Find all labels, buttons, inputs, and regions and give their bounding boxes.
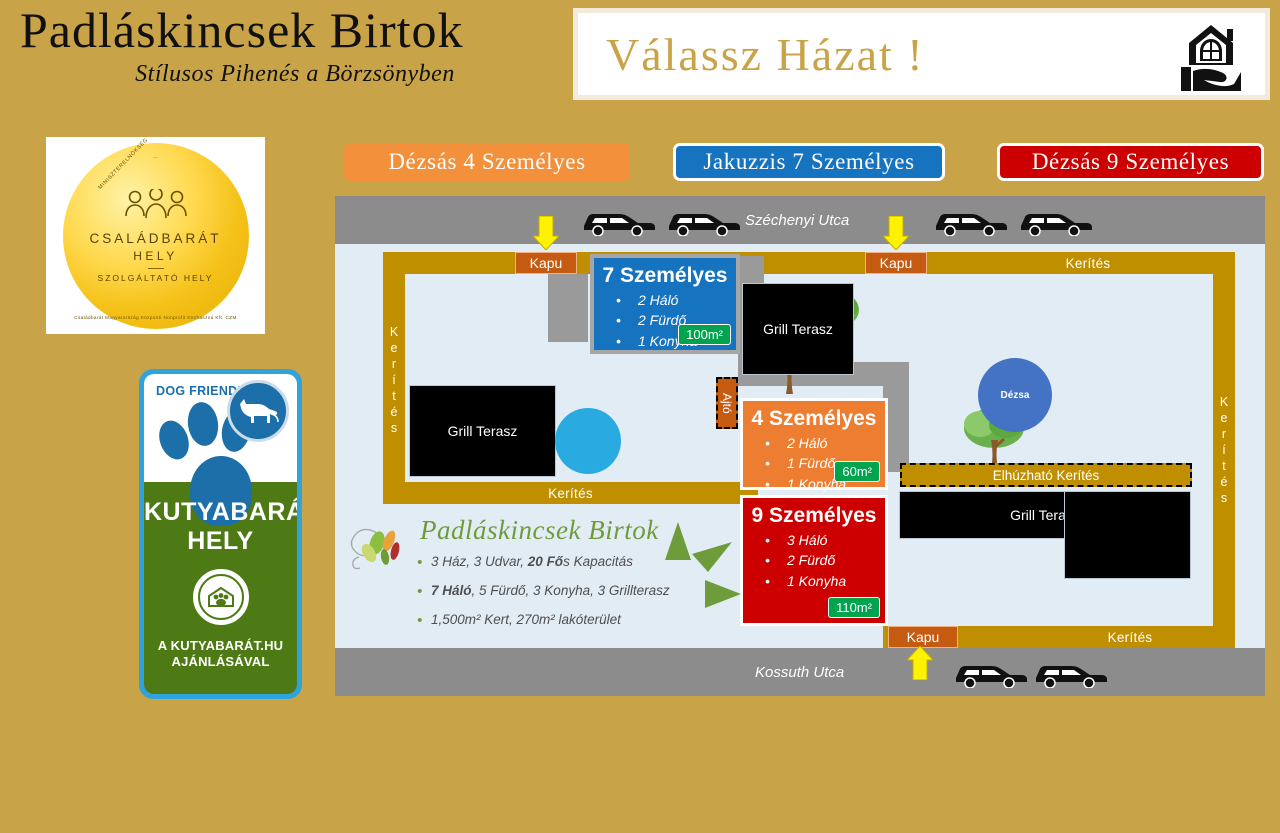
house-9-feature: 1 Konyha [765,571,885,591]
car-icon [665,206,741,236]
dog-badge-title: KUTYABARÁT [144,498,297,527]
house-9-title: 9 Személyes [743,504,885,528]
grill-terrace-right-bottom [1065,492,1190,578]
hot-tub-top: Dézsa [978,358,1052,432]
house-card-4[interactable]: 4 Személyes 2 Háló 1 Fürdő 1 Konyha 60m² [740,398,888,490]
dog-recommend-line1: A KUTYABARÁT.HU [158,638,284,653]
dog-badge-top: DOG FRIENDLY [144,374,297,482]
street-label-top: Széchenyi Utca [745,212,849,229]
fence-bottom-label: Kerítés [1025,626,1235,648]
dog-silhouette-icon [227,380,289,442]
dog-badge-recommendation: A KUTYABARÁT.HU AJÁNLÁSÁVAL [144,638,297,671]
tab-dezsas-4-szemelyes[interactable]: Dézsás 4 Személyes [344,143,630,181]
house-7-feature: 2 Háló [616,290,736,310]
car-icon [1032,658,1108,688]
arrow-diagonal-decoration [690,540,734,574]
info-bullet-2: 7 Háló, 5 Fürdő, 3 Konyha, 3 Grillterasz [417,583,745,599]
car-icon [580,206,656,236]
info-bullet-3: 1,500m² Kert, 270m² lakóterület [417,612,745,628]
page-title: Padláskincsek Birtok [20,4,570,57]
car-icon [952,658,1028,688]
choose-house-banner: Válassz Házat ! [573,8,1270,100]
house-9-feature: 3 Háló [765,530,885,550]
marker-3-icon [907,646,933,680]
house-card-9[interactable]: 9 Személyes 3 Háló 2 Fürdő 1 Konyha 110m… [740,495,888,626]
house-4-area: 60m² [834,461,880,482]
car-icon [1017,206,1093,236]
dog-badge-title2: HELY [144,527,297,556]
dog-recommend-line2: AJÁNLÁSÁVAL [171,654,269,669]
street-label-bottom: Kossuth Utca [755,664,844,681]
jacuzzi-feature [555,408,621,474]
family-badge-service: SZOLGÁLTATÓ HELY [98,273,214,283]
grill-terrace-left: Grill Terasz [410,386,555,476]
house-4-feature: 2 Háló [765,433,885,453]
family-badge-divider [148,268,164,269]
fence-right-label: Kerítés [1213,366,1235,536]
dog-badge-text-zone: KUTYABARÁT HELY A KUTYABARÁT.HU AJÁNLÁSÁ… [144,482,297,694]
fence-top-right-label: Kerítés [941,252,1235,274]
house-card-7[interactable]: 7 Személyes 2 Háló 2 Fürdő 1 Konyha 100m… [590,254,740,354]
sliding-fence-label: Elhúzható Kerítés [900,463,1192,487]
family-badge-name: CSALÁDBARÁT [89,231,221,246]
door-label: Ajtó [716,377,738,429]
family-people-icon [119,189,193,223]
tab-dezsas-9-szemelyes[interactable]: Dézsás 9 Személyes [997,143,1264,181]
gate-3[interactable]: Kapu [888,626,958,648]
brand-subtitle: Stílusos Pihenés a Börzsönyben [20,61,570,88]
house-7-title: 7 Személyes [594,264,736,288]
tab-jakuzzis-7-szemelyes[interactable]: Jakuzzis 7 Személyes [673,143,945,181]
family-badge-footer: Családbarát Magyarország Központi Nonpro… [74,315,236,320]
info-bullet-3-prefix: 1,500m² Kert, 270m² lakóterület [431,612,621,627]
house-9-feature: 2 Fürdő [765,550,885,570]
family-badge-hely: HELY [133,249,177,263]
info-bullet-1-bold: 20 Fő [528,554,563,569]
fence-left-label: Kerítés [383,296,405,466]
kutyabarat-seal-icon [190,566,252,628]
marker-1-icon [533,216,559,250]
gate-2[interactable]: Kapu [865,252,927,274]
street-szechenyi-utca: Széchenyi Utca [335,196,1265,244]
car-icon [932,206,1008,236]
brand-block: Padláskincsek Birtok Stílusos Pihenés a … [20,4,570,88]
dog-friendly-badge: DOG FRIENDLY KUTYABARÁT HELY [139,369,302,699]
choose-house-text: Válassz Házat ! [606,28,925,81]
info-bullet-1-prefix: 3 Ház, 3 Udvar, [431,554,528,569]
info-bullet-2-bold: 7 Háló [431,583,472,598]
arrow-up-decoration [663,520,693,562]
info-bullet-2-suffix: , 5 Fürdő, 3 Konyha, 3 Grillterasz [472,583,670,598]
house-in-hand-icon [1171,19,1249,102]
family-badge-coin: MINISZTERELNÖKSÉG CSALÁDBARÁT HELY SZOLG… [63,143,249,329]
family-friendly-badge: MINISZTERELNÖKSÉG CSALÁDBARÁT HELY SZOLG… [46,137,265,334]
kutyabarat-seal-inner [198,574,244,620]
street-kossuth-utca: Kossuth Utca [335,648,1265,696]
house-9-features: 3 Háló 2 Fürdő 1 Konyha [743,530,885,591]
house-9-area: 110m² [828,597,880,618]
gate-1[interactable]: Kapu [515,252,577,274]
paw-toe-icon [185,400,221,448]
house-4-title: 4 Személyes [743,407,885,431]
driveway-path-1 [548,274,588,342]
dog-badge-inner: DOG FRIENDLY KUTYABARÁT HELY [144,374,297,694]
arrow-right-decoration [703,578,743,610]
marker-2-icon [883,216,909,250]
info-bullet-1-suffix: s Kapacitás [563,554,633,569]
house-7-area: 100m² [678,324,731,345]
grill-terrace-center: Grill Terasz [743,284,853,374]
fence-middle-horizontal: Kerítés [383,482,758,504]
family-badge-ministry: MINISZTERELNÖKSÉG [97,137,149,191]
floral-ornament-icon [347,523,409,579]
